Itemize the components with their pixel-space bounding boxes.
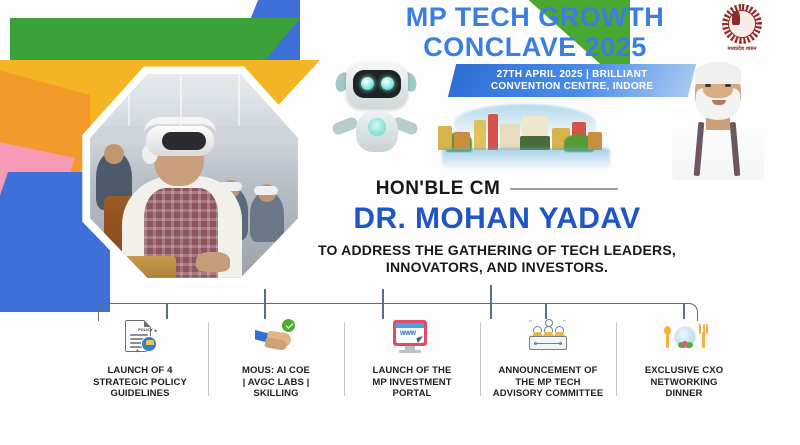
label-line2: MP INVESTMENT [372,377,451,389]
photo-chair-arm [114,256,176,282]
cityscape-tower [488,114,498,150]
label-line1: LAUNCH OF THE [372,365,451,377]
connector-drop-6 [683,303,685,319]
portrait-hair [695,62,741,84]
photo-attendee-vr [254,186,278,195]
highlight-item-mous[interactable]: MOUS: AI COE | AVGC LABS | SKILLING [208,318,344,422]
event-title-line2: CONCLAVE 2025 [370,32,700,62]
headline-subtitle: TO ADDRESS THE GATHERING OF TECH LEADERS… [282,242,712,276]
highlight-item-committee[interactable]: '' '' ANNOUNCEMENT OF THE MP TECH ADVISO… [480,318,616,422]
fork-tine [706,324,708,334]
event-poster: MP TECH GROWTH CONCLAVE 2025 मध्यप्रदेश … [0,0,800,445]
label-line3: SKILLING [242,388,310,400]
photo-cm-hand [196,252,230,272]
spoon-handle [666,333,669,348]
photo-cm-vr-lens [162,132,206,150]
date-venue-banner-text: 27TH APRIL 2025 | BRILLIANT CONVENTION C… [491,69,654,93]
sparkle-icon: ✦ [135,348,140,355]
label-line2: THE MP TECH [493,377,604,389]
www-label: WWW [400,331,416,337]
cityscape-building [438,126,452,150]
date-venue-banner: 27TH APRIL 2025 | BRILLIANT CONVENTION C… [448,64,696,97]
label-line1: MOUS: AI COE [242,365,310,377]
highlight-label: EXCLUSIVE CXO NETWORKING DINNER [645,365,723,400]
robot-arm-left [331,116,360,137]
document-heading: POLICY [138,327,153,332]
banner-line2: CONVENTION CENTRE, INDORE [491,81,654,93]
emblem-figure [732,11,740,25]
photo-cm-vr-strap [144,117,216,133]
connector-drop-1 [166,303,168,319]
label-line3: ADVISORY COMMITTEE [493,388,604,400]
portrait-eye-right [725,84,731,87]
mp-government-emblem-icon: मध्यप्रदेश शासन [718,4,766,54]
label-line3: DINNER [645,388,723,400]
label-line1: ANNOUNCEMENT OF [493,365,604,377]
highlight-label: MOUS: AI COE | AVGC LABS | SKILLING [242,365,310,400]
table-line [537,343,559,344]
headline-subtitle-line1: TO ADDRESS THE GATHERING OF TECH LEADERS… [282,242,712,259]
headline-divider [510,188,618,190]
portrait-eye-left [705,84,711,87]
highlight-label: ANNOUNCEMENT OF THE MP TECH ADVISORY COM… [493,365,604,400]
banner-line1: 27TH APRIL 2025 | BRILLIANT [491,69,654,81]
cityscape-building [500,124,520,150]
label-line3: PORTAL [372,388,451,400]
highlight-item-policy[interactable]: POLICY ✦ ✦ LAUNCH OF 4 STRATEGIC POLICY … [72,318,208,422]
fork-tine [699,324,701,334]
speaker-name: DR. MOHAN YADAV [282,202,712,236]
highlights-row: POLICY ✦ ✦ LAUNCH OF 4 STRATEGIC POLICY … [72,318,752,422]
highlight-item-dinner[interactable]: EXCLUSIVE CXO NETWORKING DINNER [616,318,752,422]
ai-robot-mascot-icon [330,58,422,170]
connector-drop-3 [382,289,384,319]
honorific-row: HON'BLE CM [282,178,712,200]
photo-hall-line [238,70,240,126]
highlight-label: LAUNCH OF THE MP INVESTMENT PORTAL [372,365,451,400]
label-line1: EXCLUSIVE CXO [645,365,723,377]
highlight-item-portal[interactable]: WWW LAUNCH OF THE MP INVESTMENT PORTAL [344,318,480,422]
handshake-check-icon [253,318,299,358]
sparkle-icon: '' [529,320,532,327]
connector-drop-4 [490,285,492,319]
plate-garnish-berry [682,341,688,347]
honorific-text: HON'BLE CM [376,178,501,200]
dignitary-portrait [662,56,774,180]
fork-handle [702,332,705,348]
event-title-line1: MP TECH GROWTH [370,2,700,32]
connector-drop-2 [264,289,266,319]
cityscape-building [474,120,486,150]
monitor-frame: WWW [393,320,427,346]
cityscape-illustration [424,100,624,172]
advisory-committee-icon: '' '' [525,318,571,358]
web-portal-monitor-icon: WWW [389,318,435,358]
monitor-base [399,350,421,353]
photo-attendee-head [104,144,124,164]
policy-document-icon: POLICY ✦ ✦ [117,318,163,358]
emblem-seal [722,4,762,44]
label-line3: GUIDELINES [93,388,187,400]
cityscape-water-reflection [442,148,610,168]
label-line2: STRATEGIC POLICY [93,377,187,389]
cm-vr-photo [88,70,300,282]
browser-title-bar [396,323,424,328]
label-line1: LAUNCH OF 4 [93,365,187,377]
highlight-label: LAUNCH OF 4 STRATEGIC POLICY GUIDELINES [93,365,187,400]
label-line2: | AVGC LABS | [242,377,310,389]
event-title: MP TECH GROWTH CONCLAVE 2025 [370,2,700,62]
connector-drop-5 [545,303,547,319]
dinner-plate-icon [661,318,707,358]
sparkle-icon: '' [563,320,566,327]
robot-chest-light [368,118,386,136]
label-line2: NETWORKING [645,377,723,389]
document-text-line [130,334,148,336]
headline-subtitle-line2: INNOVATORS, AND INVESTORS. [282,259,712,276]
table-dot [559,342,562,345]
headline-block: HON'BLE CM DR. MOHAN YADAV TO ADDRESS TH… [282,178,712,276]
verified-check-icon [281,318,296,333]
robot-eye-right [381,77,394,90]
policy-seal-badge [141,336,157,352]
robot-eye-left [361,77,374,90]
sparkle-icon: ✦ [153,328,158,335]
emblem-caption: मध्यप्रदेश शासन [718,46,766,52]
